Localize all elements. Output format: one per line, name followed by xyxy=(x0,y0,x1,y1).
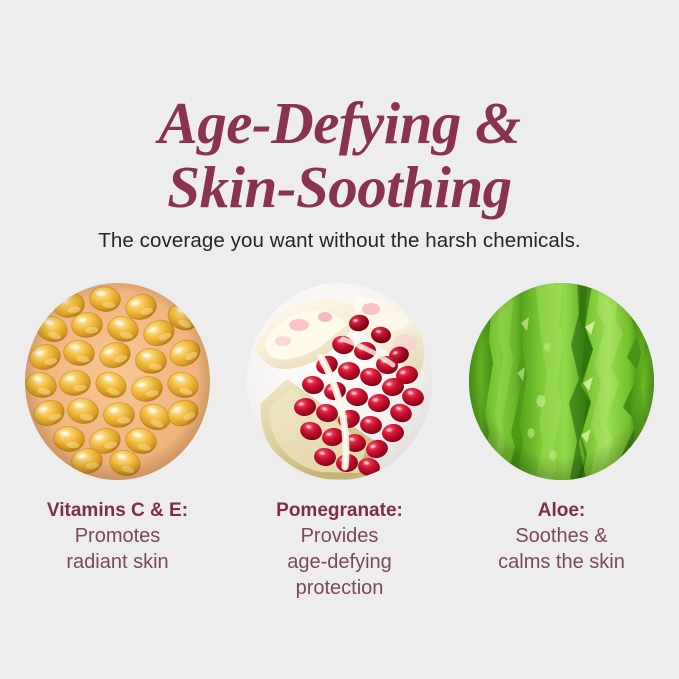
ingredient-column-vitamins: Vitamins C & E: Promotes radiant skin xyxy=(25,283,210,601)
caption-body: Soothes & calms the skin xyxy=(454,523,669,575)
caption-body: Provides age-defying protection xyxy=(232,523,447,601)
ingredient-column-pomegranate: Pomegranate: Provides age-defying protec… xyxy=(247,283,432,601)
page-title: Age-Defying & Skin-Soothing xyxy=(0,91,679,219)
caption-body-line: Soothes & xyxy=(454,523,669,549)
ingredient-columns: Vitamins C & E: Promotes radiant skin xyxy=(0,283,679,601)
pomegranate-photo xyxy=(247,283,432,480)
caption-body-line: Provides xyxy=(232,523,447,549)
caption-body-line: calms the skin xyxy=(454,549,669,575)
caption-body: Promotes radiant skin xyxy=(10,523,225,575)
caption-body-line: age-defying xyxy=(232,549,447,575)
headline-line-2: Skin-Soothing xyxy=(0,155,679,219)
subtitle: The coverage you want without the harsh … xyxy=(0,229,679,253)
caption-title: Vitamins C & E: xyxy=(10,499,225,523)
caption-vitamins: Vitamins C & E: Promotes radiant skin xyxy=(10,499,225,575)
caption-aloe: Aloe: Soothes & calms the skin xyxy=(454,499,669,575)
ingredient-column-aloe: Aloe: Soothes & calms the skin xyxy=(469,283,654,601)
caption-pomegranate: Pomegranate: Provides age-defying protec… xyxy=(232,499,447,601)
caption-body-line: radiant skin xyxy=(10,549,225,575)
caption-title: Aloe: xyxy=(454,499,669,523)
caption-body-line: protection xyxy=(232,575,447,601)
headline-line-1: Age-Defying & xyxy=(0,91,679,155)
ingredient-benefits-poster: Age-Defying & Skin-Soothing The coverage… xyxy=(0,0,679,679)
vitamin-gel-capsules-photo xyxy=(25,283,210,480)
caption-body-line: Promotes xyxy=(10,523,225,549)
aloe-leaves-photo xyxy=(469,283,654,480)
caption-title: Pomegranate: xyxy=(232,499,447,523)
